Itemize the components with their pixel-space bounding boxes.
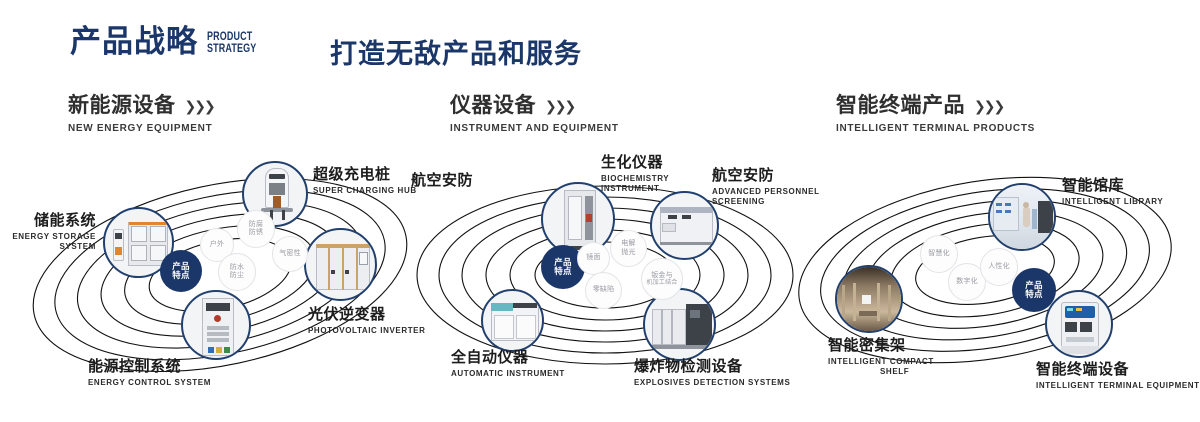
page-subtitle: 打造无敌产品和服务 (330, 32, 582, 71)
smart-library-icon (990, 185, 1054, 249)
page-title: 产品战略 (70, 26, 198, 57)
label-energy-storage-system: 储能系统 ENERGY STORAGE SYSTEM (0, 213, 96, 252)
node-label-en-1: BIOCHEMISTRY (601, 174, 721, 184)
cluster-instrument: 生化仪器 BIOCHEMISTRY INSTRUMENT 航空安防 航空安防 A… (405, 150, 805, 400)
node-intelligent-terminal-equipment[interactable] (1045, 290, 1113, 358)
keyword-text-1: 电解 (621, 240, 635, 248)
keyword-text-2: 机加工结合 (646, 280, 677, 287)
node-label-en-1: ENERGY CONTROL SYSTEM (88, 378, 211, 388)
node-label-en-2: INSTRUMENT (601, 184, 721, 194)
label-explosives-detection-systems: 爆炸物检测设备 EXPLOSIVES DETECTION SYSTEMS (634, 359, 790, 388)
node-label-cn: 能源控制系统 (88, 359, 211, 376)
label-intelligent-compact-shelf: 智能密集架 INTELLIGENT COMPACT SHELF (828, 338, 934, 377)
node-label-en-1: INTELLIGENT COMPACT (828, 357, 934, 367)
node-label-en-1: AUTOMATIC INSTRUMENT (451, 369, 565, 379)
section-title-cn: 仪器设备 ❯❯❯ (450, 94, 619, 118)
section-title-en: NEW ENERGY EQUIPMENT (68, 123, 214, 134)
keyword-text-1: 防水 (230, 264, 244, 272)
node-label-cn: 爆炸物检测设备 (634, 359, 790, 376)
keyword-airtightness: 气密性 (272, 236, 308, 272)
keyword-text-1: 防腐 (249, 221, 263, 229)
keyword-text: 智慧化 (928, 250, 950, 258)
badge-line2: 特点 (172, 271, 190, 280)
compact-shelf-icon (837, 267, 901, 331)
node-label-cn: 智能终端设备 (1036, 362, 1200, 379)
cluster-new-energy: 储能系统 ENERGY STORAGE SYSTEM 超级充电桩 SUPER C… (20, 150, 420, 400)
pv-inverter-icon (306, 230, 375, 299)
label-aviation-security-left: 航空安防 (411, 173, 473, 190)
cluster-intelligent-terminal: 智能馆库 INTELLIGENT LIBRARY 智能密集架 INTELLIGE… (790, 150, 1190, 400)
section-title-en: INSTRUMENT AND EQUIPMENT (450, 123, 619, 134)
explosives-detector-icon (645, 290, 714, 359)
label-energy-control-system: 能源控制系统 ENERGY CONTROL SYSTEM (88, 359, 211, 388)
node-label-cn: 超级充电桩 (313, 167, 417, 184)
keyword-text: 零缺陷 (593, 286, 615, 294)
badge-line2: 特点 (1025, 290, 1043, 299)
section-title-cn: 新能源设备 ❯❯❯ (68, 94, 214, 118)
keyword-text-2: 防锈 (249, 229, 263, 237)
keyword-humanized: 人性化 (980, 248, 1018, 286)
node-energy-control-system[interactable] (181, 290, 251, 360)
keyword-text-2: 防尘 (230, 272, 244, 280)
label-automatic-instrument: 全自动仪器 AUTOMATIC INSTRUMENT (451, 350, 565, 379)
section-title-cn: 智能终端产品 ❯❯❯ (836, 94, 1035, 118)
keyword-text: 数字化 (956, 278, 978, 286)
section-title-cn-text: 仪器设备 (450, 94, 536, 118)
section-title-cn-text: 智能终端产品 (836, 94, 965, 118)
keyword-text-2: 抛光 (621, 249, 635, 257)
badge-product-features: 产品 特点 (160, 250, 202, 292)
control-cabinet-icon (183, 292, 249, 358)
node-intelligent-library[interactable] (988, 183, 1056, 251)
section-title-cn-text: 新能源设备 (68, 94, 176, 118)
node-label-en-1: INTELLIGENT LIBRARY (1062, 197, 1163, 207)
page-title-en-line2: STRATEGY (207, 44, 256, 56)
keyword-text: 镜面 (586, 254, 600, 262)
poster-root: 产品战略 PRODUCT STRATEGY 打造无敌产品和服务 新能源设备 ❯❯… (0, 0, 1200, 422)
keyword-anticorrosion: 防腐 防锈 (237, 210, 275, 248)
node-label-cn: 智能馆库 (1062, 178, 1163, 195)
chevron-right-icon: ❯❯❯ (185, 98, 214, 114)
chevron-right-icon: ❯❯❯ (545, 98, 574, 114)
node-explosives-detection-systems[interactable] (643, 288, 716, 361)
node-label-en-1: SUPER CHARGING HUB (313, 186, 417, 196)
page-header: 产品战略 PRODUCT STRATEGY (70, 26, 270, 57)
automatic-instrument-icon (483, 291, 542, 350)
keyword-text: 人性化 (988, 263, 1010, 271)
keyword-waterproof-dustproof: 防水 防尘 (218, 253, 256, 291)
screening-machine-icon (652, 193, 717, 258)
chevron-right-icon: ❯❯❯ (974, 98, 1003, 114)
node-label-en-1: INTELLIGENT TERMINAL EQUIPMENT (1036, 381, 1200, 391)
node-label-cn: 航空安防 (411, 173, 473, 190)
keyword-intelligent: 智慧化 (920, 235, 958, 273)
node-label-en-1: EXPLOSIVES DETECTION SYSTEMS (634, 378, 790, 388)
terminal-kiosk-icon (1047, 292, 1111, 356)
node-automatic-instrument[interactable] (481, 289, 544, 352)
keyword-zero-defect: 零缺陷 (585, 272, 622, 309)
node-label-en-2: SYSTEM (0, 242, 96, 252)
keyword-electrolytic-polishing: 电解 抛光 (610, 230, 647, 267)
keyword-mirror-finish: 镜面 (577, 242, 610, 275)
section-title-en: INTELLIGENT TERMINAL PRODUCTS (836, 123, 1035, 134)
keyword-sheetmetal-machining: 钣金与 机加工结合 (641, 258, 683, 300)
node-advanced-personnel-screening[interactable] (650, 191, 719, 260)
node-label-cn: 生化仪器 (601, 155, 721, 172)
node-label-en-1: ENERGY STORAGE (0, 232, 96, 242)
label-intelligent-library: 智能馆库 INTELLIGENT LIBRARY (1062, 178, 1163, 207)
node-photovoltaic-inverter[interactable] (304, 228, 377, 301)
page-title-en: PRODUCT STRATEGY (207, 32, 256, 55)
node-intelligent-compact-shelf[interactable] (835, 265, 903, 333)
keyword-text: 户外 (210, 241, 224, 249)
label-biochemistry-instrument: 生化仪器 BIOCHEMISTRY INSTRUMENT (601, 155, 721, 194)
node-label-cn: 智能密集架 (828, 338, 934, 355)
node-label-cn: 储能系统 (0, 213, 96, 230)
keyword-text: 气密性 (279, 250, 301, 258)
label-intelligent-terminal-equipment: 智能终端设备 INTELLIGENT TERMINAL EQUIPMENT (1036, 362, 1200, 391)
label-super-charging-hub: 超级充电桩 SUPER CHARGING HUB (313, 167, 417, 196)
node-label-cn: 全自动仪器 (451, 350, 565, 367)
section-title-instrument: 仪器设备 ❯❯❯ INSTRUMENT AND EQUIPMENT (450, 94, 619, 134)
section-title-new-energy: 新能源设备 ❯❯❯ NEW ENERGY EQUIPMENT (68, 94, 214, 134)
badge-product-features: 产品 特点 (1012, 268, 1056, 312)
page-title-en-line1: PRODUCT (207, 32, 256, 44)
biochemistry-scanner-icon (543, 184, 613, 254)
badge-line2: 特点 (554, 267, 572, 276)
node-label-en-2: SHELF (880, 367, 934, 377)
section-title-intelligent-terminal: 智能终端产品 ❯❯❯ INTELLIGENT TERMINAL PRODUCTS (836, 94, 1035, 134)
keyword-text-1: 钣金与 (651, 272, 673, 280)
